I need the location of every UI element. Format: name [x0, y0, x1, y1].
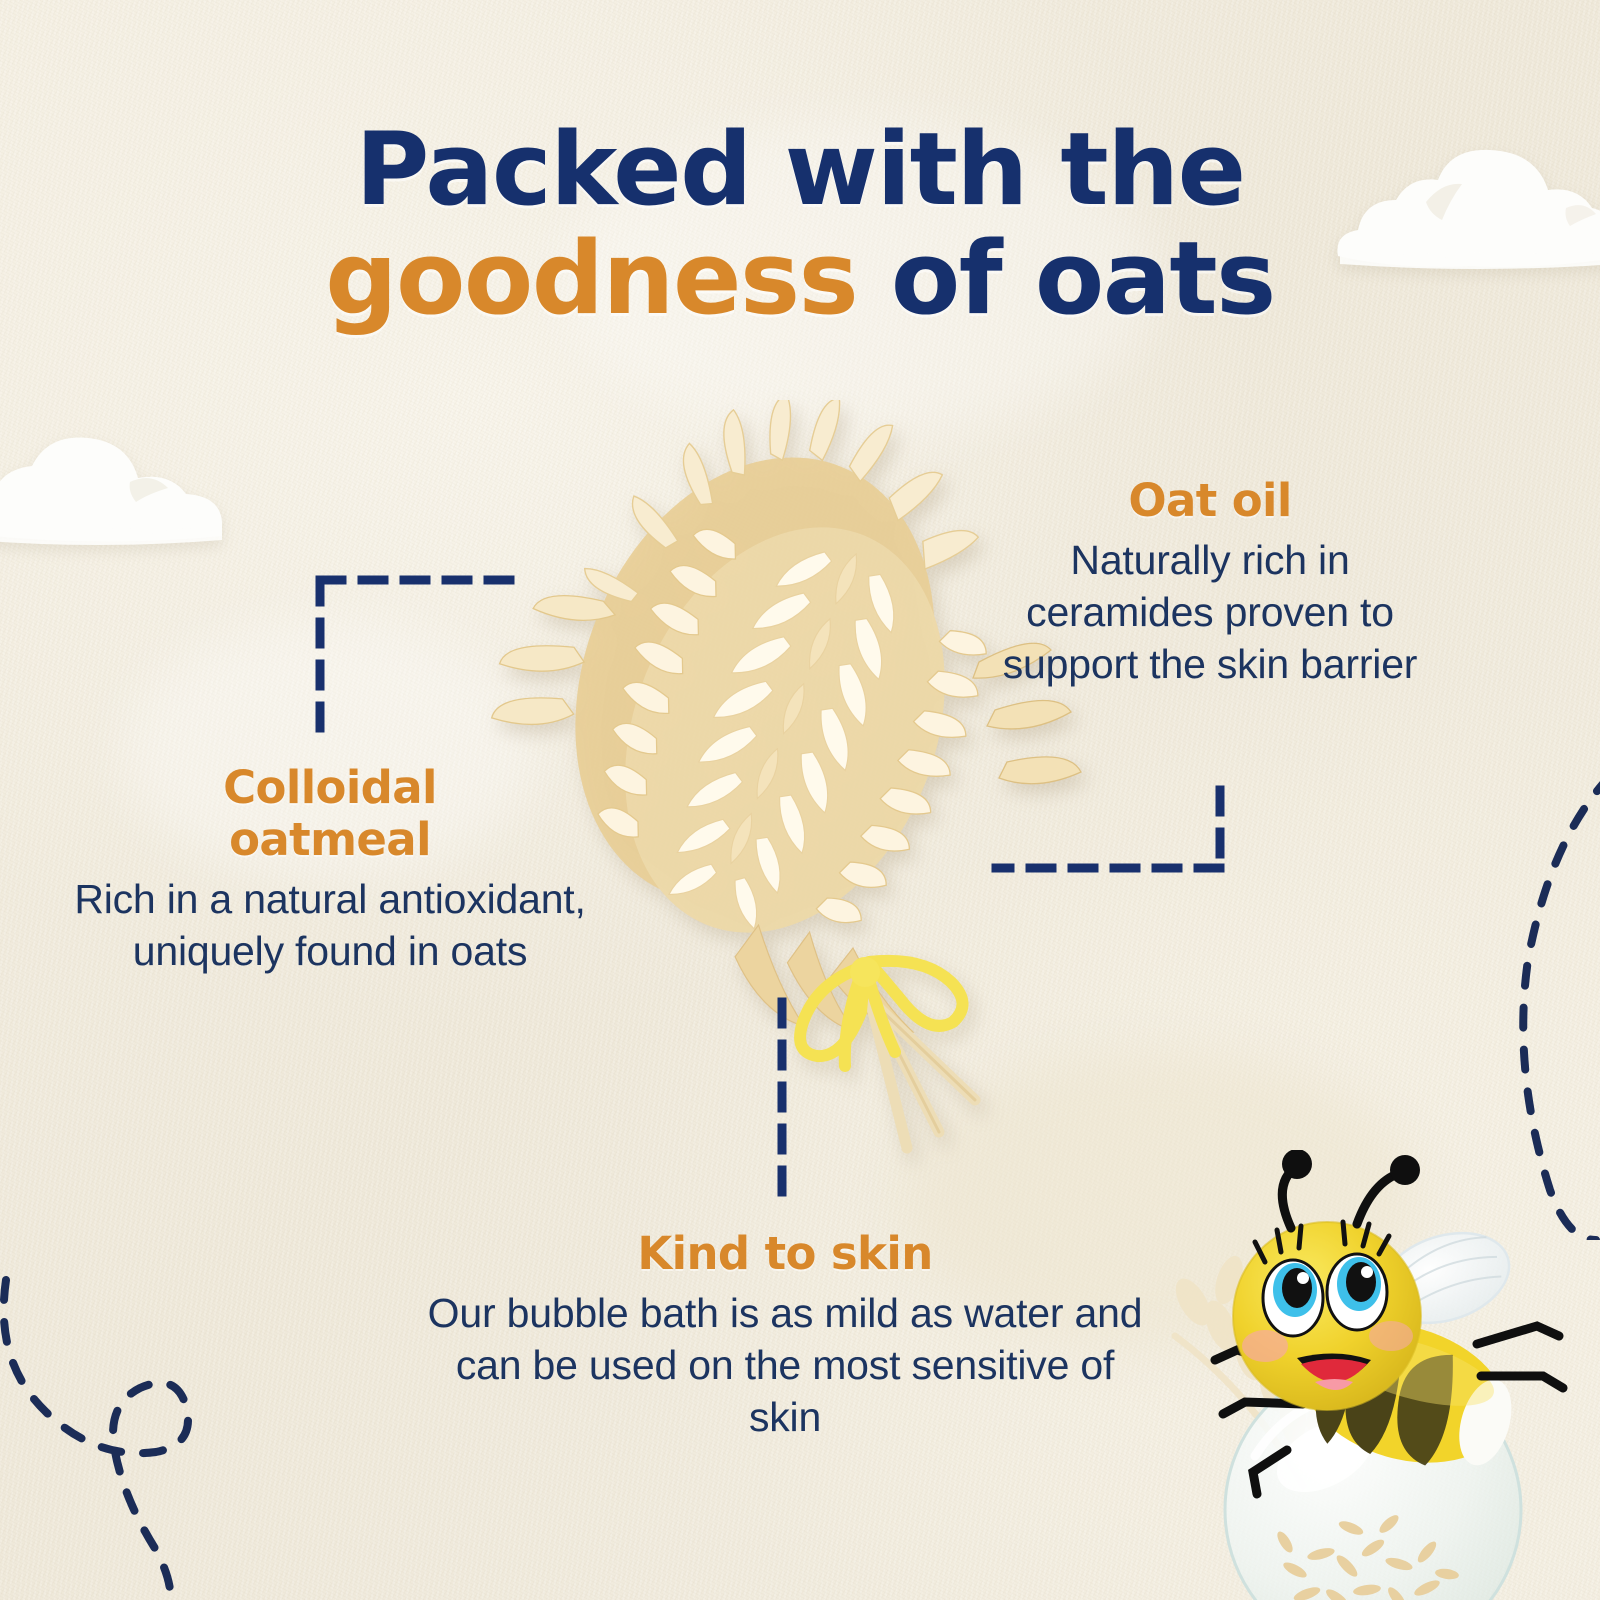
title-line-1: Packed with the [0, 118, 1600, 221]
callout-kind-to-skin-body: Our bubble bath is as mild as water and … [420, 1287, 1150, 1443]
callout-kind-to-skin: Kind to skin Our bubble bath is as mild … [420, 1228, 1150, 1443]
page-title: Packed with the goodness of oats [0, 118, 1600, 330]
bee-head [1233, 1222, 1421, 1410]
callout-colloidal-oatmeal-heading: Colloidal oatmeal [165, 762, 495, 866]
callout-colloidal-oatmeal: Colloidal oatmeal Rich in a natural anti… [45, 762, 615, 978]
callout-kind-to-skin-heading: Kind to skin [420, 1228, 1150, 1280]
infographic-canvas: Packed with the goodness of oats [0, 0, 1600, 1600]
callout-oat-oil-heading: Oat oil [980, 475, 1440, 527]
callout-colloidal-oatmeal-body: Rich in a natural antioxidant, uniquely … [45, 873, 615, 977]
callout-oat-oil-body: Naturally rich in ceramides proven to su… [980, 534, 1440, 690]
title-line-2-rest: of oats [857, 219, 1275, 337]
bee-character-illustration [1145, 1150, 1600, 1600]
cloud-mid-left-icon [0, 412, 240, 552]
callout-oat-oil: Oat oil Naturally rich in ceramides prov… [980, 475, 1440, 690]
title-highlight-goodness: goodness [325, 219, 857, 337]
bee-flight-trail-left [0, 1270, 310, 1600]
